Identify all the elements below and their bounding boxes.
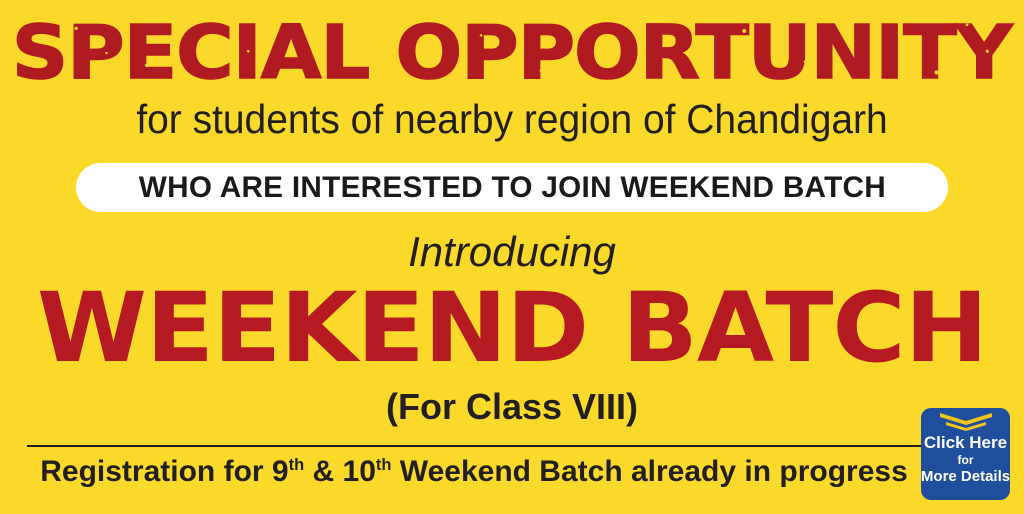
- introducing-label: Introducing: [0, 228, 1024, 276]
- badge-line-for: for: [958, 453, 974, 468]
- highlight-pill: WHO ARE INTERESTED TO JOIN WEEKEND BATCH: [76, 163, 948, 212]
- click-here-badge[interactable]: Click Here for More Details: [921, 408, 1010, 500]
- registration-part3: Weekend Batch already in progress: [391, 455, 907, 488]
- class-eligibility: (For Class VIII): [0, 387, 1024, 427]
- headline-container: SPECIAL OPPORTUNITY: [0, 14, 1024, 92]
- registration-ordinal-10: th: [376, 456, 392, 474]
- subtitle: for students of nearby region of Chandig…: [26, 96, 999, 142]
- highlight-pill-label: WHO ARE INTERESTED TO JOIN WEEKEND BATCH: [138, 172, 885, 204]
- registration-part1: Registration for 9: [40, 455, 288, 488]
- registration-part2: & 10: [304, 455, 376, 488]
- page-title: SPECIAL OPPORTUNITY: [12, 15, 1012, 91]
- badge-line-more-details: More Details: [921, 468, 1010, 486]
- double-chevron-down-icon: [938, 412, 994, 432]
- registration-ordinal-9: th: [289, 456, 305, 474]
- registration-notice: Registration for 9th & 10th Weekend Batc…: [27, 452, 921, 492]
- offer-title: WEEKEND BATCH: [0, 278, 1024, 378]
- promotional-banner: SPECIAL OPPORTUNITY for students of near…: [0, 0, 1024, 514]
- badge-line-click-here: Click Here: [924, 433, 1007, 453]
- divider: [27, 445, 921, 447]
